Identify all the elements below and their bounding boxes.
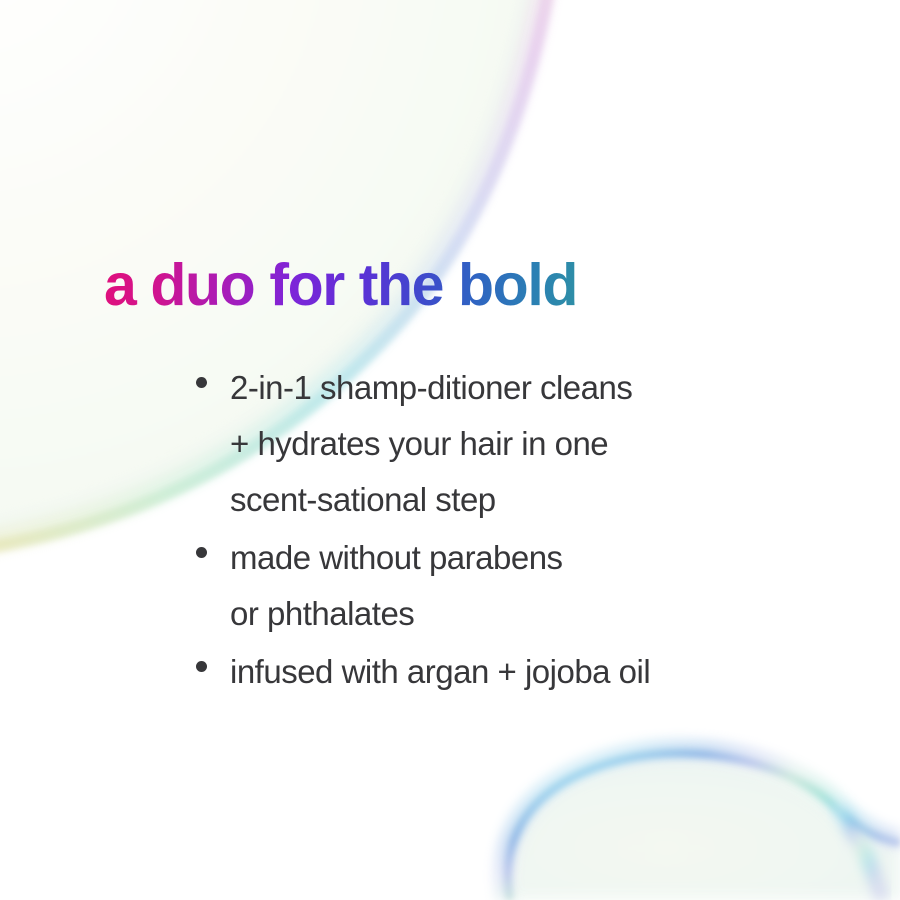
list-item-line: 2-in-1 shamp-ditioner cleans (230, 360, 810, 416)
list-item-line: made without parabens (230, 530, 810, 586)
list-item-line: scent-sational step (230, 472, 810, 528)
list-item-line: or phthalates (230, 586, 810, 642)
feature-bullet-list: 2-in-1 shamp-ditioner cleans + hydrates … (190, 360, 810, 702)
list-item-text: 2-in-1 shamp-ditioner cleans + hydrates … (230, 360, 810, 528)
marketing-graphic-canvas: a duo for the bold 2-in-1 shamp-ditioner… (0, 0, 900, 900)
list-item-text: infused with argan + jojoba oil (230, 644, 810, 700)
bullet-dot-icon (196, 547, 207, 558)
list-item-line: + hydrates your hair in one (230, 416, 810, 472)
bullet-dot-icon (196, 661, 207, 672)
list-item: infused with argan + jojoba oil (190, 644, 810, 700)
bullet-dot-icon (196, 377, 207, 388)
list-item-text: made without parabens or phthalates (230, 530, 810, 642)
page-title: a duo for the bold (104, 256, 577, 315)
list-item: 2-in-1 shamp-ditioner cleans + hydrates … (190, 360, 810, 528)
list-item: made without parabens or phthalates (190, 530, 810, 642)
soap-bubble-bottom-right (504, 749, 900, 900)
list-item-line: infused with argan + jojoba oil (230, 644, 810, 700)
